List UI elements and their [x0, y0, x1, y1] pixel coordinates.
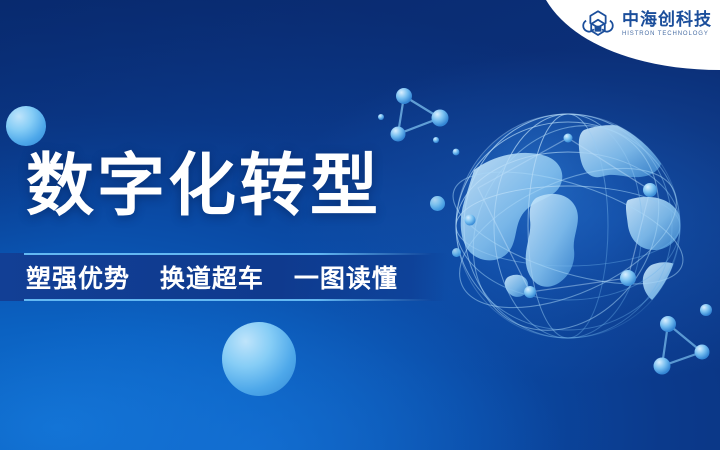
gradient-sphere-icon	[452, 248, 461, 257]
logo-company-name-en: HISTRON TECHNOLOGY	[622, 31, 712, 37]
digital-transformation-banner: 中海创科技 HISTRON TECHNOLOGY 数字化转型 塑强优势 换道超车…	[0, 0, 720, 450]
page-title: 数字化转型	[26, 152, 381, 220]
subtitle-part-1: 塑强优势	[26, 265, 130, 293]
subtitle-band: 塑强优势 换道超车 一图读懂	[0, 253, 448, 301]
subtitle-part-3: 一图读懂	[294, 265, 398, 293]
gradient-sphere-icon	[430, 196, 445, 211]
brand-logo: 中海创科技 HISTRON TECHNOLOGY	[581, 7, 712, 41]
hexagon-knot-logo-icon	[581, 7, 615, 41]
wireframe-globe-icon	[418, 78, 718, 378]
gradient-sphere-icon	[6, 106, 46, 146]
subtitle-band-bottom-rule	[24, 299, 432, 301]
subtitle-text: 塑强优势 换道超车 一图读懂	[26, 259, 398, 295]
subtitle-part-2: 换道超车	[160, 265, 264, 293]
subtitle-band-top-rule	[24, 253, 432, 255]
logo-company-name-cn: 中海创科技	[622, 11, 712, 28]
gradient-sphere-icon	[222, 322, 296, 396]
